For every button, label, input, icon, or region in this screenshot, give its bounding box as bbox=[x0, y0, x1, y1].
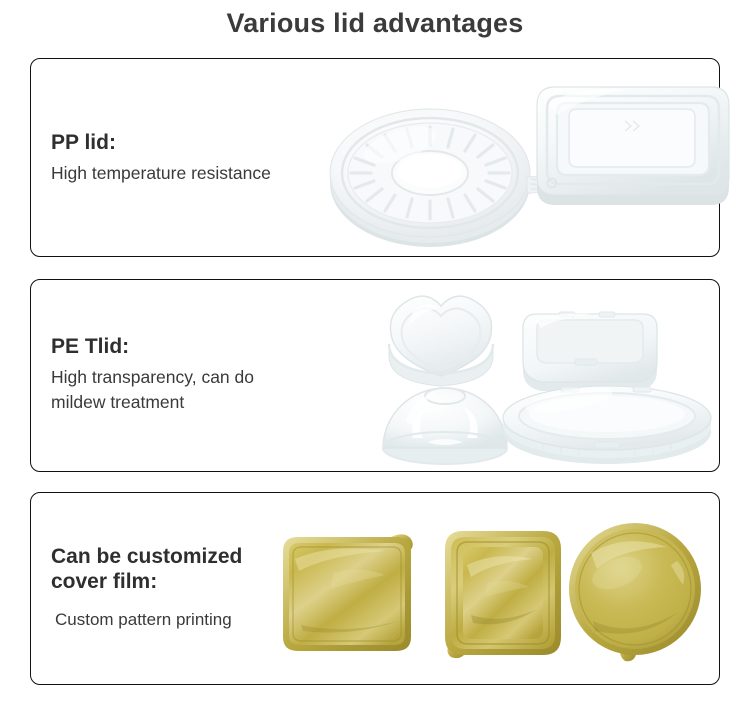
pe-description: High transparency, can do mildew treatme… bbox=[51, 365, 254, 416]
dome-pet-lid-graphic bbox=[383, 388, 507, 464]
round-pp-lid-graphic bbox=[330, 109, 547, 247]
rectangular-gold-foil-lid-graphic bbox=[283, 534, 413, 651]
pe-lead-label: PE Tlid: bbox=[51, 335, 254, 360]
foil-text-block: Can be customized cover film: Custom pat… bbox=[51, 545, 242, 632]
foil-description: Custom pattern printing bbox=[51, 608, 242, 633]
panel-pe-lid: PE Tlid: High transparency, can do milde… bbox=[30, 279, 720, 472]
rectangular-pp-lid-graphic bbox=[537, 87, 729, 205]
panel-pp-lid: PP lid: High temperature resistance bbox=[30, 58, 720, 257]
pp-text-block: PP lid: High temperature resistance bbox=[51, 131, 271, 186]
oval-pet-lid-graphic bbox=[503, 383, 711, 464]
panel-foil-lid: Can be customized cover film: Custom pat… bbox=[30, 492, 720, 685]
pp-product-images bbox=[321, 59, 721, 258]
heart-pet-lid-graphic bbox=[389, 296, 493, 386]
foil-product-images bbox=[261, 493, 721, 686]
pe-text-block: PE Tlid: High transparency, can do milde… bbox=[51, 335, 254, 416]
pp-lead-label: PP lid: bbox=[51, 131, 271, 156]
page-title: Various lid advantages bbox=[0, 8, 750, 39]
square-pet-lid-graphic bbox=[523, 312, 657, 391]
square-gold-foil-lid-graphic bbox=[445, 531, 561, 658]
foil-lead-label: Can be customized cover film: bbox=[51, 545, 242, 595]
round-gold-foil-lid-graphic bbox=[569, 523, 701, 661]
pp-description: High temperature resistance bbox=[51, 161, 271, 186]
pe-product-images bbox=[361, 280, 721, 473]
